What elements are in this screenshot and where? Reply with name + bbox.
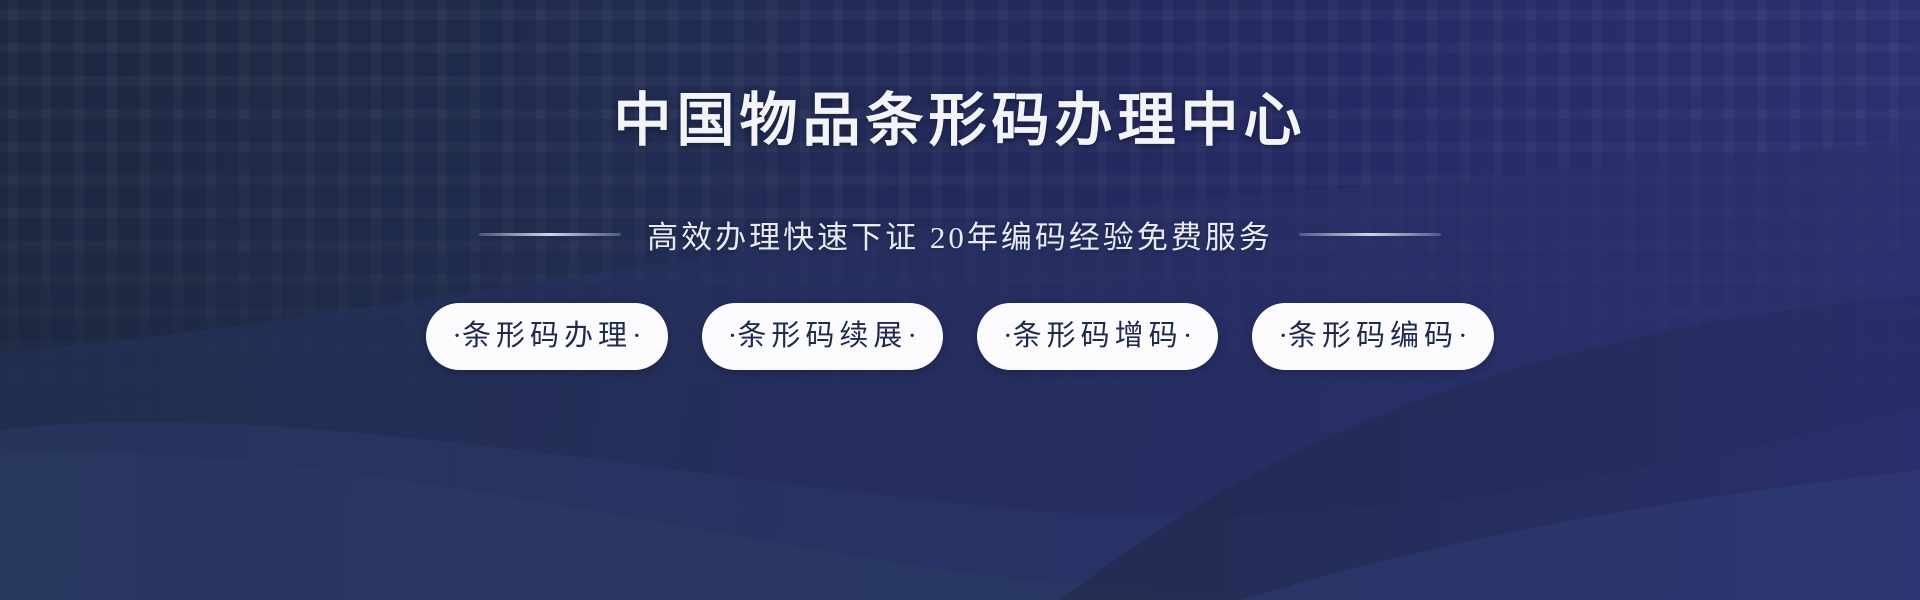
service-pill-group: · 条形码办理 · · 条形码续展 · · 条形码增码 · · 条形码编码 ·: [426, 303, 1493, 370]
bullet-dot-icon: ·: [452, 322, 462, 351]
pill-label: 条形码办理: [462, 322, 632, 351]
bullet-dot-icon: ·: [1278, 322, 1288, 351]
pill-label: 条形码增码: [1013, 322, 1183, 351]
bullet-dot-icon: ·: [1458, 322, 1468, 351]
hero-banner: 中国物品条形码办理中心 高效办理快速下证 20年编码经验免费服务 · 条形码办理…: [0, 0, 1920, 600]
left-rule-decoration: [479, 233, 621, 236]
bullet-dot-icon: ·: [907, 322, 917, 351]
pill-label: 条形码编码: [1288, 322, 1458, 351]
bullet-dot-icon: ·: [1183, 322, 1193, 351]
pill-barcode-encoding[interactable]: · 条形码编码 ·: [1252, 303, 1493, 370]
pill-barcode-application[interactable]: · 条形码办理 ·: [426, 303, 667, 370]
subtitle-row: 高效办理快速下证 20年编码经验免费服务: [479, 212, 1441, 257]
pill-barcode-add-codes[interactable]: · 条形码增码 ·: [977, 303, 1218, 370]
pill-label: 条形码续展: [737, 322, 907, 351]
hero-content: 中国物品条形码办理中心 高效办理快速下证 20年编码经验免费服务 · 条形码办理…: [0, 0, 1920, 600]
bullet-dot-icon: ·: [728, 322, 738, 351]
pill-barcode-renewal[interactable]: · 条形码续展 ·: [702, 303, 943, 370]
bullet-dot-icon: ·: [632, 322, 642, 351]
right-rule-decoration: [1299, 233, 1441, 236]
page-title: 中国物品条形码办理中心: [613, 88, 1306, 155]
page-subtitle: 高效办理快速下证 20年编码经验免费服务: [647, 212, 1273, 257]
bullet-dot-icon: ·: [1003, 322, 1013, 351]
